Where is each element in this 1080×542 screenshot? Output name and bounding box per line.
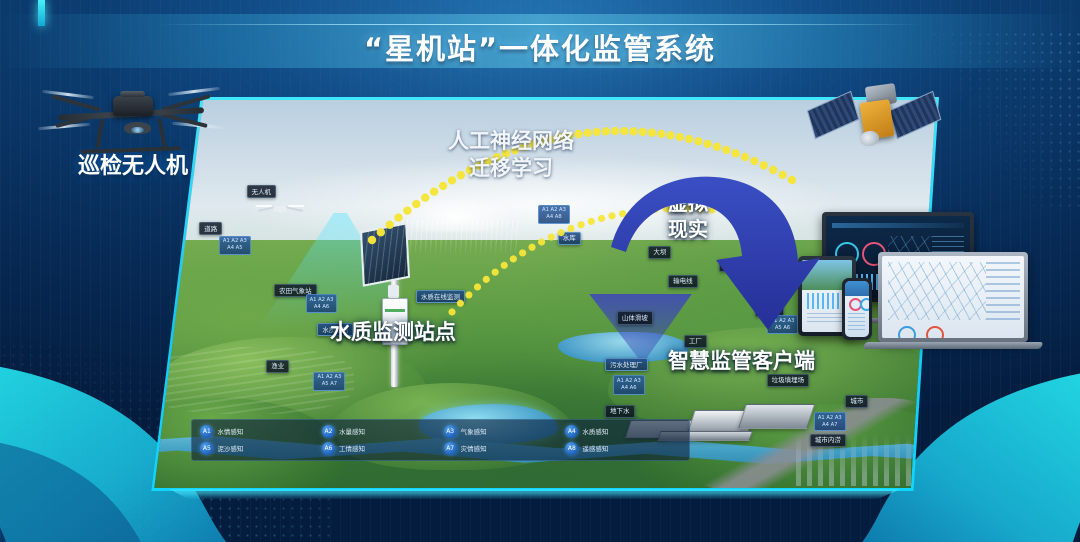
map-tag: 水库 (558, 232, 581, 245)
drone-body (273, 206, 287, 211)
map-tag: 道路 (199, 222, 222, 235)
sensor-code-line: A5 A7 (317, 381, 341, 388)
legend-item-a6: A6工情感知 (322, 442, 438, 455)
map-tag: 渔业 (266, 360, 289, 373)
sensor-code-line: A4 A6 (617, 385, 641, 392)
legend-label: 工情感知 (339, 443, 365, 453)
legend-item-a2: A2水量感知 (322, 425, 438, 438)
sensor-code-line: A5 A6 (771, 325, 795, 332)
phone-list (848, 313, 865, 330)
satellite-solar-wing (807, 90, 860, 138)
map-tag: 地下水 (605, 405, 635, 418)
sensor-code-line: A4 A7 (818, 422, 842, 429)
laptop-base (863, 342, 1044, 349)
drone-propeller (168, 87, 220, 96)
legend-item-a7: A7灾情感知 (444, 442, 560, 455)
sensor-code-line: A1 A2 A3 (542, 207, 566, 214)
laptop-donut (926, 326, 944, 338)
legend-label: 泥沙感知 (217, 443, 243, 453)
phone-screen (845, 281, 869, 337)
map-tag: 污水处理厂 (605, 358, 648, 371)
drone-arm (285, 206, 303, 212)
drone-leg (158, 117, 167, 147)
legend-code-badge: A4 (565, 425, 578, 438)
smartphone-icon (842, 278, 872, 340)
legend-item-a4: A4水质感知 (565, 425, 681, 438)
satellite-solar-wing (889, 90, 942, 138)
title-divider (160, 24, 920, 25)
legend-code-badge: A1 (200, 425, 213, 438)
legend-label: 灾情感知 (461, 443, 487, 453)
factory-building (738, 404, 815, 429)
sensor-code-line: A1 A2 A3 (310, 297, 334, 304)
solar-panel-icon (360, 222, 410, 287)
page-title: “星机站”一体化监管系统 (0, 26, 1080, 68)
legend-code-badge: A6 (322, 442, 335, 455)
caption-supervision-client: 智慧监管客户端 (668, 345, 815, 375)
map-tag: 输电线 (668, 275, 698, 288)
legend-item-a1: A1水情感知 (200, 425, 316, 438)
corner-accent-mark (38, 0, 45, 26)
caption-neural-network-line1: 人工神经网络 (448, 128, 574, 155)
sensor-code-line: A4 A8 (542, 214, 566, 221)
sensor-code-tag: A1 A2 A3A5 A6 (767, 315, 799, 334)
laptop-icon (878, 252, 1028, 342)
caption-virtual: 虚拟 (668, 190, 708, 216)
legend-label: 水量感知 (339, 426, 365, 436)
laptop-legend-panel (986, 262, 1020, 324)
caption-neural-network: 人工神经网络 迁移学习 (448, 128, 574, 182)
legend-label: 气象感知 (461, 426, 487, 436)
legend-code-badge: A3 (444, 425, 457, 438)
sensor-code-line: A1 A2 A3 (771, 318, 795, 325)
drone-leg (95, 117, 104, 147)
phone-donut (860, 298, 869, 311)
station-sensor-head (388, 285, 399, 299)
map-tag: 水质在线监测 (416, 290, 465, 303)
laptop-donut (898, 326, 916, 338)
sensor-code-line: A1 A2 A3 (617, 378, 641, 385)
device-cluster (812, 212, 1070, 352)
slide-stage: “星机站”一体化监管系统 (0, 0, 1080, 542)
laptop-map-screen (882, 256, 1024, 338)
sensor-code-tag: A1 A2 A3A4 A7 (814, 412, 846, 431)
tablet-bar-chart (807, 293, 847, 309)
legend-code-badge: A7 (444, 442, 457, 455)
map-tag: 垃圾填埋场 (767, 374, 810, 387)
scene-drone-icon (258, 201, 302, 217)
legend-code-badge: A8 (565, 442, 578, 455)
sensor-code-line: A1 A2 A3 (818, 415, 842, 422)
sensor-code-line: A4 A6 (310, 304, 334, 311)
legend-label: 水情感知 (217, 426, 243, 436)
drone-icon (48, 78, 214, 154)
sensor-code-tag: A1 A2 A3A4 A8 (538, 205, 570, 224)
caption-transfer-learning-line2: 迁移学习 (448, 155, 574, 182)
drone-body (113, 96, 153, 116)
satellite-icon (806, 72, 942, 164)
sensor-code-line: A1 A2 A3 (317, 374, 341, 381)
sensor-code-line: A4 A5 (223, 245, 247, 252)
map-tag: 城市 (845, 395, 868, 408)
sensor-code-tag: A1 A2 A3A5 A7 (313, 372, 345, 391)
scene-panel-underglow (158, 489, 908, 499)
legend-label: 水质感知 (582, 426, 608, 436)
caption-virtual-reality: 虚拟 现实 (668, 190, 708, 242)
sensor-code-tag: A1 A2 A3A4 A6 (306, 294, 338, 313)
tablet-list (807, 313, 847, 325)
map-tag: 城市内涝 (810, 434, 846, 447)
caption-reality: 现实 (668, 216, 708, 242)
phone-header (845, 281, 869, 296)
sensor-legend: A1水情感知A2水量感知A3气象感知A4水质感知A5泥沙感知A6工情感知A7灾情… (191, 419, 690, 461)
map-tag: 山体滑坡 (719, 259, 755, 272)
sensor-code-tag: A1 A2 A3A4 A6 (613, 375, 645, 394)
sensor-code-line: A1 A2 A3 (223, 238, 247, 245)
caption-water-station: 水质监测站点 (330, 316, 456, 346)
sensor-code-tag: A1 A2 A3A4 A5 (219, 236, 251, 255)
laptop-map-panel (888, 262, 986, 320)
legend-code-badge: A2 (322, 425, 335, 438)
legend-label: 遥感感知 (582, 443, 608, 453)
map-tag: 山体滑坡 (617, 311, 653, 324)
legend-item-a8: A8遥感感知 (565, 442, 681, 455)
legend-item-a3: A3气象感知 (444, 425, 560, 438)
map-tag: 无人机 (247, 185, 277, 198)
legend-code-badge: A5 (200, 442, 213, 455)
map-tag: 大坝 (648, 246, 671, 259)
legend-item-a5: A5泥沙感知 (200, 442, 316, 455)
